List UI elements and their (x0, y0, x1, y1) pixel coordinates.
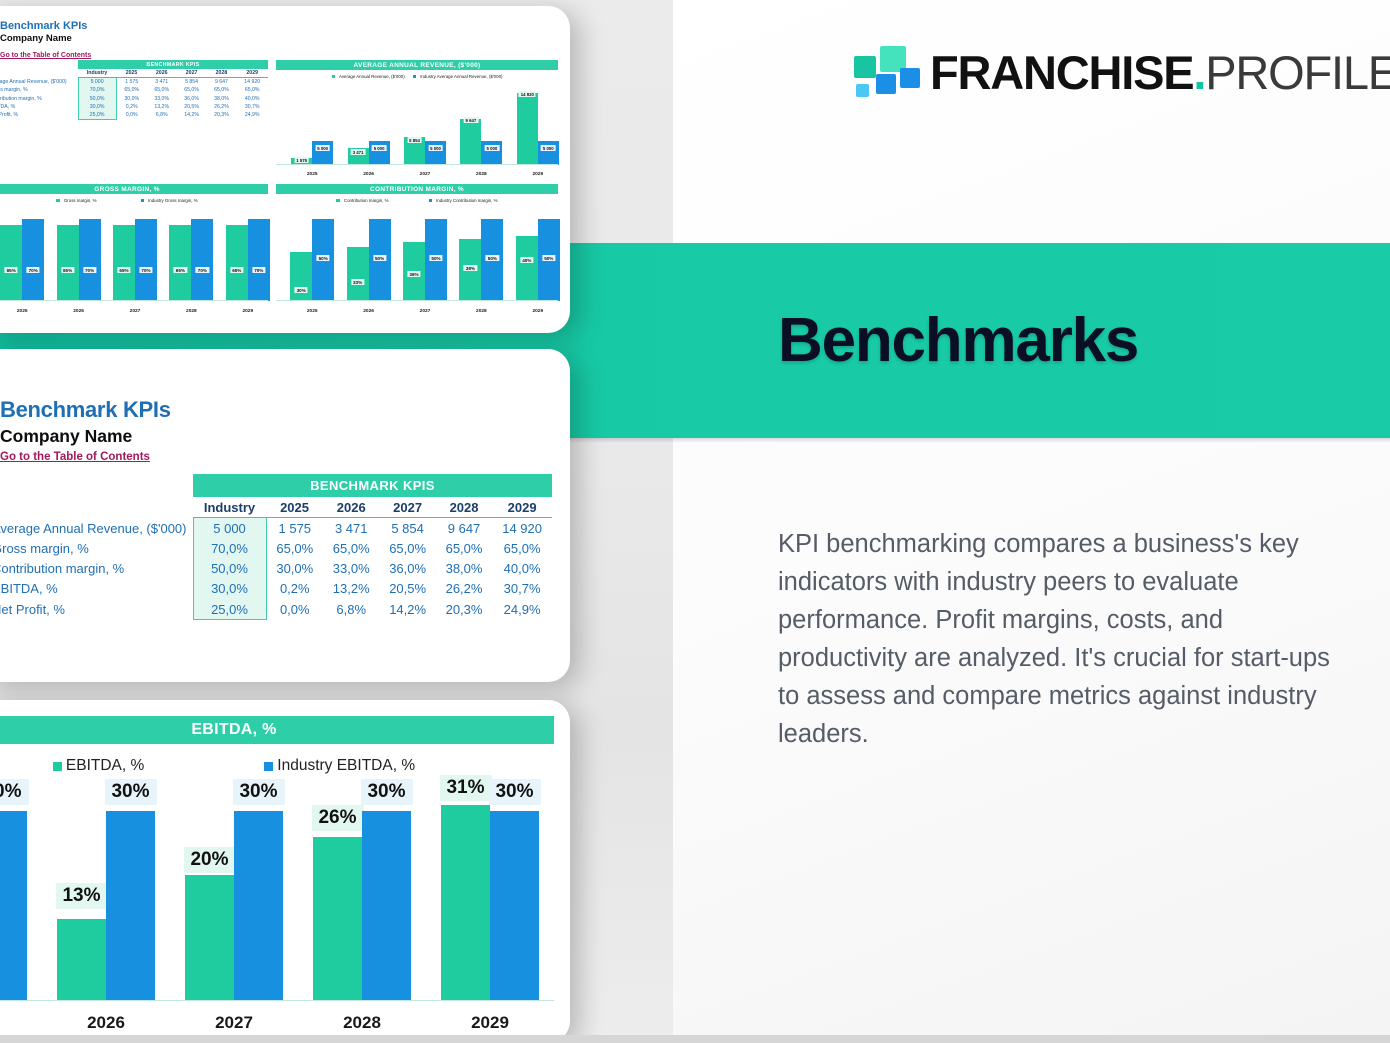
table-cell: 13,2% (147, 103, 177, 111)
bar-value-label: 31% (439, 775, 491, 801)
slide-card-ebitda-chart: EBITDA, %EBITDA, %Industry EBITDA, %0%30… (0, 700, 570, 1043)
bar-value-label: 26% (311, 805, 363, 831)
chart-gross-margin-small: GROSS MARGIN, %Gross margin, %Industry G… (0, 184, 268, 318)
table-cell: 5 000 (193, 518, 266, 539)
bar-value-label: 70% (139, 267, 152, 273)
slide-card-kpi-table: Benchmark KPIs Company Name Go to the Ta… (0, 349, 570, 682)
bar-value-label: 9 647 (464, 117, 479, 123)
logo-word-dot: . (1193, 46, 1205, 99)
legend-swatch-icon (429, 199, 433, 203)
slide-card-dashboard: Benchmark KPIs Company Name Go to the Ta… (0, 6, 570, 333)
bar-series-company: 9 647 (460, 119, 481, 166)
bar-series-company: 40% (516, 236, 538, 302)
table-cell: 40,0% (236, 95, 268, 103)
table-cell: 14,2% (177, 111, 207, 120)
table-row: Gross margin, %70,0%65,0%65,0%65,0%65,0%… (0, 538, 552, 558)
legend-swatch-icon (141, 199, 145, 203)
bar-series-industry: 30% (234, 811, 283, 1001)
table-cell: 13,2% (323, 579, 379, 599)
kpi-banner-spacer (0, 474, 193, 497)
bar-series-industry: 70% (22, 219, 44, 301)
table-cell: 26,2% (207, 103, 237, 111)
table-of-contents-link[interactable]: Go to the Table of Contents (0, 52, 91, 59)
bar-group: 65%70% (113, 219, 157, 301)
table-cell: 20,3% (207, 111, 237, 120)
row-label: Net Profit, % (0, 599, 193, 620)
bar-series-industry: 5 000 (425, 141, 446, 165)
x-axis-tick: 2028 (453, 309, 509, 314)
bar-series-industry: 30% (490, 811, 539, 1001)
bar-series-industry: 30% (0, 811, 27, 1001)
bar-series-company: 3 471 (348, 148, 369, 165)
column-header: 2028 (436, 497, 492, 518)
column-header: Industry (193, 497, 266, 518)
table-cell: 40,0% (492, 559, 552, 579)
bar-value-label: 70% (252, 267, 265, 273)
table-row: EBITDA, %30,0%0,2%13,2%20,5%26,2%30,7% (0, 103, 268, 111)
x-axis-tick: 2028 (298, 1013, 426, 1033)
bar-series-company: 30% (290, 252, 312, 301)
bar-value-label: 70% (83, 267, 96, 273)
table-row: Contribution margin, %50,0%30,0%33,0%36,… (0, 559, 552, 579)
bar-group: 38%50% (459, 219, 503, 301)
bar-value-label: 3 471 (351, 149, 366, 155)
table-row: Net Profit, %25,0%0,0%6,8%14,2%20,3%24,9… (0, 599, 552, 620)
legend-swatch-icon (264, 762, 273, 771)
legend-item: EBITDA, % (53, 757, 144, 775)
bar-value-label: 50% (429, 255, 442, 261)
chart-plot-area: 65%70%202565%70%202665%70%202765%70%2028… (0, 207, 268, 315)
bar-group: 0%30% (0, 811, 27, 1001)
chart-title: CONTRIBUTION MARGIN, % (276, 184, 558, 194)
bar-series-company: 5 854 (404, 137, 425, 165)
row-label: Average Annual Revenue, ($'000) (0, 78, 78, 87)
table-cell: 14,2% (379, 599, 435, 620)
bar-value-label: 30% (232, 779, 284, 805)
sheet-company-large: Company Name (0, 426, 171, 447)
table-row: Average Annual Revenue, ($'000)5 0001 57… (0, 78, 268, 87)
x-axis-tick: 2029 (426, 1013, 554, 1033)
table-cell: 30,7% (236, 103, 268, 111)
column-header: 2026 (323, 497, 379, 518)
table-cell: 36,0% (177, 95, 207, 103)
bar-value-label: 5 000 (428, 145, 443, 151)
table-cell: 24,9% (492, 599, 552, 620)
bar-value-label: 50% (542, 255, 555, 261)
chart-axis-line (276, 164, 558, 165)
bar-series-company: 26% (313, 837, 362, 1001)
bar-series-industry: 70% (79, 219, 101, 301)
bar-group: 13%30% (57, 811, 155, 1001)
table-cell: 24,9% (236, 111, 268, 120)
x-axis-tick: 2025 (0, 1013, 42, 1033)
table-cell: 33,0% (323, 559, 379, 579)
table-cell: 20,5% (379, 579, 435, 599)
bar-series-company: 14 920 (517, 93, 538, 165)
sheet-title: Benchmark KPIs (0, 20, 91, 32)
bar-group: 20%30% (185, 811, 283, 1001)
bar-value-label: 30% (104, 779, 156, 805)
bar-value-label: 5 000 (541, 145, 556, 151)
chart-average-annual-revenue-small: AVERAGE ANNUAL REVENUE, ($'000)Average A… (276, 60, 558, 182)
legend-item: Contribution margin, % (336, 198, 388, 203)
table-cell: 65,0% (236, 86, 268, 94)
table-cell: 14 920 (492, 518, 552, 539)
x-axis-tick: 2029 (510, 309, 566, 314)
table-cell: 30,7% (492, 579, 552, 599)
legend-swatch-icon (413, 75, 417, 79)
logo-word-profiles: PROFILES (1205, 46, 1390, 99)
table-cell: 5 854 (379, 518, 435, 539)
bar-series-industry: 50% (312, 219, 334, 301)
table-row: Gross margin, %70,0%65,0%65,0%65,0%65,0%… (0, 86, 268, 94)
bar-value-label: 5 000 (485, 145, 500, 151)
table-row: Average Annual Revenue, ($'000)5 0001 57… (0, 518, 552, 539)
bar-value-label: 70% (27, 267, 40, 273)
table-row: BENCHMARK KPIS (0, 474, 552, 497)
table-cell: 6,8% (147, 111, 177, 120)
chart-title: GROSS MARGIN, % (0, 184, 268, 194)
table-cell: 25,0% (78, 111, 116, 120)
table-cell: 30,0% (193, 579, 266, 599)
row-label: Gross margin, % (0, 86, 78, 94)
sheet-title-large: Benchmark KPIs (0, 397, 171, 423)
bar-value-label: 30% (295, 287, 308, 293)
bar-value-label: 50% (486, 255, 499, 261)
bar-series-industry: 5 000 (481, 141, 502, 165)
x-axis-tick: 2027 (397, 309, 453, 314)
bar-series-industry: 5 000 (369, 141, 390, 165)
x-axis-tick: 2025 (284, 309, 340, 314)
chart-legend: Gross margin, %Industry Gross margin, % (0, 198, 268, 203)
table-cell: 65,0% (379, 538, 435, 558)
bar-value-label: 5 000 (315, 145, 330, 151)
bar-series-company: 36% (403, 242, 425, 301)
table-cell: 65,0% (323, 538, 379, 558)
bar-group: 40%50% (516, 219, 560, 301)
table-cell: 9 647 (207, 78, 237, 87)
kpi-table-banner: BENCHMARK KPIS (78, 60, 268, 69)
legend-swatch-icon (53, 762, 62, 771)
bar-group: 65%70% (226, 219, 270, 301)
table-header-row: Industry20252026202720282029 (0, 69, 268, 78)
bar-value-label: 30% (0, 779, 29, 805)
chart-legend: EBITDA, %Industry EBITDA, % (0, 757, 554, 775)
legend-item: Gross margin, % (56, 198, 96, 203)
sheet-header-large: Benchmark KPIs Company Name Go to the Ta… (0, 397, 171, 465)
column-header: Industry (78, 69, 116, 78)
sheet-header-small: Benchmark KPIs Company Name Go to the Ta… (0, 20, 91, 62)
table-cell: 14 920 (236, 78, 268, 87)
chart-plot-area: 30%50%202533%50%202636%50%202738%50%2028… (276, 207, 558, 315)
bar-series-industry: 70% (135, 219, 157, 301)
bar-series-industry: 50% (481, 219, 503, 301)
bar-group: 9 6475 000 (460, 119, 502, 166)
table-cell: 65,0% (266, 538, 323, 558)
row-label: EBITDA, % (0, 579, 193, 599)
brand-logo: FRANCHISE.PROFILES (852, 44, 1390, 100)
column-header: 2025 (116, 69, 147, 78)
bar-series-company: 31% (441, 805, 490, 1001)
bar-group: 65%70% (0, 219, 44, 301)
chart-legend: Contribution margin, %Industry Contribut… (276, 198, 558, 203)
page-bottom-strip (0, 1035, 1390, 1043)
table-cell: 26,2% (436, 579, 492, 599)
bar-value-label: 40% (520, 257, 533, 263)
bar-group: 30%50% (290, 219, 334, 301)
bar-group: 65%70% (57, 219, 101, 301)
legend-swatch-icon (56, 199, 60, 203)
column-header: 2027 (177, 69, 207, 78)
x-axis-tick: 2027 (397, 172, 453, 177)
table-cell: 65,0% (436, 538, 492, 558)
table-cell: 65,0% (177, 86, 207, 94)
x-axis-tick: 2026 (340, 309, 396, 314)
column-header: 2027 (379, 497, 435, 518)
x-axis-tick: 2025 (284, 172, 340, 177)
bar-group: 33%50% (347, 219, 391, 301)
bar-group: 1 5755 000 (291, 141, 333, 165)
row-label: Net Profit, % (0, 111, 78, 120)
bar-value-label: 33% (351, 279, 364, 285)
bar-value-label: 50% (317, 255, 330, 261)
table-cell: 0,0% (266, 599, 323, 620)
legend-item: Industry Contribution margin, % (429, 198, 498, 203)
table-cell: 0,2% (116, 103, 147, 111)
bar-series-company: 20% (185, 875, 234, 1001)
sheet-company: Company Name (0, 33, 91, 44)
chart-ebitda-large: EBITDA, %EBITDA, %Industry EBITDA, %0%30… (0, 716, 554, 1043)
chart-title: AVERAGE ANNUAL REVENUE, ($'000) (276, 60, 558, 70)
bar-value-label: 65% (117, 267, 130, 273)
x-axis-tick: 2025 (0, 309, 50, 314)
bar-value-label: 30% (360, 779, 412, 805)
table-cell: 36,0% (379, 559, 435, 579)
table-row: BENCHMARK KPIS (0, 60, 268, 69)
table-row: Contribution margin, %50,0%30,0%33,0%36,… (0, 95, 268, 103)
logo-word-franchise: FRANCHISE (930, 46, 1193, 99)
bar-value-label: 20% (183, 847, 235, 873)
x-axis-tick: 2026 (340, 172, 396, 177)
bar-value-label: 36% (407, 271, 420, 277)
bar-group: 36%50% (403, 219, 447, 301)
row-label: Average Annual Revenue, ($'000) (0, 518, 193, 539)
bar-value-label: 30% (488, 779, 540, 805)
bar-series-industry: 50% (369, 219, 391, 301)
column-header: 2025 (266, 497, 323, 518)
table-cell: 30,0% (116, 95, 147, 103)
chart-plot-area: 0%30%202513%30%202620%30%202726%30%20283… (0, 793, 554, 1043)
bar-value-label: 65% (174, 267, 187, 273)
bar-series-company: 65% (226, 225, 248, 301)
table-cell: 5 854 (177, 78, 207, 87)
bar-series-company: 65% (57, 225, 79, 301)
table-cell: 38,0% (207, 95, 237, 103)
bar-group: 5 8545 000 (404, 137, 446, 165)
legend-item: Industry Gross margin, % (141, 198, 198, 203)
x-axis-tick: 2026 (42, 1013, 170, 1033)
table-cell: 33,0% (147, 95, 177, 103)
bar-series-industry: 5 000 (538, 141, 559, 165)
legend-item: Industry Average Annual Revenue, ($'000) (413, 74, 503, 79)
x-axis-tick: 2028 (453, 172, 509, 177)
row-label: Contribution margin, % (0, 95, 78, 103)
chart-plot-area: 1 5755 00020253 4715 00020265 8545 00020… (276, 81, 558, 177)
x-axis-tick: 2029 (510, 172, 566, 177)
table-cell: 20,3% (436, 599, 492, 620)
x-axis-tick: 2029 (220, 309, 276, 314)
bar-series-industry: 30% (106, 811, 155, 1001)
table-cell: 65,0% (116, 86, 147, 94)
table-cell: 3 471 (323, 518, 379, 539)
bar-series-company: 13% (57, 919, 106, 1001)
bar-value-label: 65% (5, 267, 18, 273)
table-cell: 50,0% (193, 559, 266, 579)
table-cell: 50,0% (78, 95, 116, 103)
bar-value-label: 38% (464, 265, 477, 271)
bar-value-label: 14 920 (519, 91, 536, 97)
logo-wordmark: FRANCHISE.PROFILES (930, 49, 1390, 96)
bar-value-label: 5 000 (372, 145, 387, 151)
chart-title: EBITDA, % (0, 716, 554, 744)
bar-group: 65%70% (169, 219, 213, 301)
kpi-table-banner: BENCHMARK KPIS (193, 474, 552, 497)
bar-group: 26%30% (313, 811, 411, 1001)
chart-axis-line (0, 1000, 554, 1001)
kpi-table-small: BENCHMARK KPISIndustry202520262027202820… (0, 60, 268, 120)
legend-swatch-icon (332, 75, 336, 79)
logo-mark-icon (852, 44, 914, 100)
table-row: Net Profit, %25,0%0,0%6,8%14,2%20,3%24,9… (0, 111, 268, 120)
bar-series-company: 65% (113, 225, 135, 301)
column-header: 2029 (492, 497, 552, 518)
bar-group: 3 4715 000 (348, 141, 390, 165)
row-label: Contribution margin, % (0, 559, 193, 579)
legend-item: Average Annual Revenue, ($'000) (332, 74, 405, 79)
column-header: 2028 (207, 69, 237, 78)
table-cell: 20,5% (177, 103, 207, 111)
legend-swatch-icon (336, 199, 340, 203)
x-axis-tick: 2027 (170, 1013, 298, 1033)
kpi-table-large: BENCHMARK KPISIndustry202520262027202820… (0, 474, 552, 620)
table-cell: 6,8% (323, 599, 379, 620)
x-axis-tick: 2026 (50, 309, 106, 314)
bar-value-label: 65% (230, 267, 243, 273)
table-cell: 70,0% (78, 86, 116, 94)
table-cell: 0,0% (116, 111, 147, 120)
bar-value-label: 70% (196, 267, 209, 273)
bar-series-industry: 5 000 (312, 141, 333, 165)
table-cell: 65,0% (207, 86, 237, 94)
kpi-banner-spacer (0, 60, 78, 69)
bar-series-industry: 70% (191, 219, 213, 301)
bar-value-label: 1 575 (294, 157, 309, 163)
table-cell: 30,0% (78, 103, 116, 111)
table-cell: 1 575 (116, 78, 147, 87)
bar-value-label: 5 854 (407, 137, 422, 143)
bar-series-company: 33% (347, 247, 369, 301)
table-cell: 70,0% (193, 538, 266, 558)
page-background-right (673, 0, 1390, 1043)
bar-group: 31%30% (441, 805, 539, 1001)
table-header-row: Industry20252026202720282029 (0, 497, 552, 518)
column-header: 2026 (147, 69, 177, 78)
table-cell: 3 471 (147, 78, 177, 87)
row-label: Gross margin, % (0, 538, 193, 558)
bar-series-company: 65% (169, 225, 191, 301)
table-cell: 9 647 (436, 518, 492, 539)
table-cell: 5 000 (78, 78, 116, 87)
table-of-contents-link-large[interactable]: Go to the Table of Contents (0, 451, 150, 463)
column-header: 2029 (236, 69, 268, 78)
legend-item: Industry EBITDA, % (264, 757, 415, 775)
bar-series-industry: 70% (248, 219, 270, 301)
bar-series-industry: 50% (425, 219, 447, 301)
bar-series-industry: 50% (538, 219, 560, 301)
table-row: EBITDA, %30,0%0,2%13,2%20,5%26,2%30,7% (0, 579, 552, 599)
table-cell: 0,2% (266, 579, 323, 599)
bar-value-label: 50% (373, 255, 386, 261)
x-axis-tick: 2028 (163, 309, 219, 314)
table-cell: 1 575 (266, 518, 323, 539)
chart-axis-line (276, 300, 558, 301)
description-paragraph: KPI benchmarking compares a business's k… (778, 525, 1350, 753)
bar-series-company: 38% (459, 239, 481, 301)
bar-group: 14 9205 000 (517, 93, 559, 165)
row-label: EBITDA, % (0, 103, 78, 111)
chart-axis-line (0, 300, 268, 301)
x-axis-tick: 2027 (107, 309, 163, 314)
chart-contribution-margin-small: CONTRIBUTION MARGIN, %Contribution margi… (276, 184, 558, 318)
table-cell: 30,0% (266, 559, 323, 579)
table-cell: 38,0% (436, 559, 492, 579)
table-cell: 25,0% (193, 599, 266, 620)
bar-value-label: 65% (61, 267, 74, 273)
bar-series-industry: 30% (362, 811, 411, 1001)
table-cell: 65,0% (147, 86, 177, 94)
page-title: Benchmarks (778, 305, 1138, 376)
chart-legend: Average Annual Revenue, ($'000)Industry … (276, 74, 558, 79)
bar-value-label: 13% (55, 883, 107, 909)
bar-series-company: 65% (0, 225, 22, 301)
table-cell: 65,0% (492, 538, 552, 558)
